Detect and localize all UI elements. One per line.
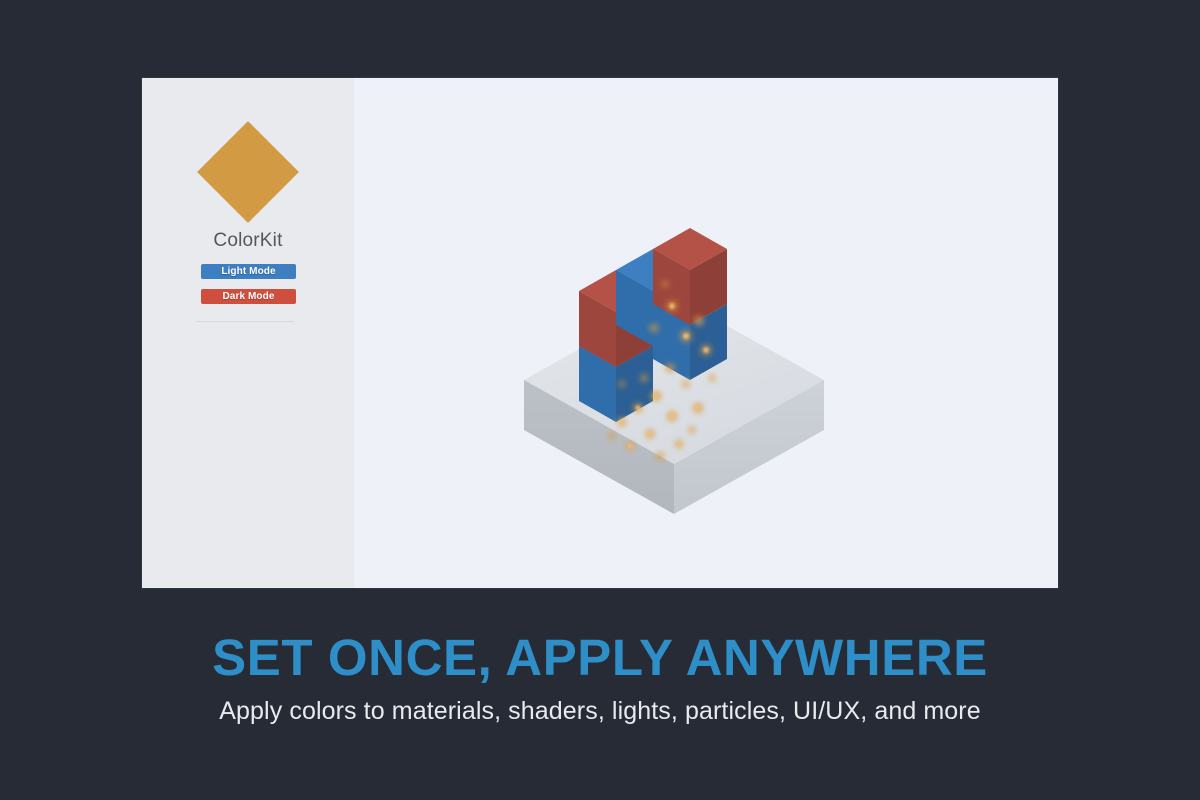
screenshot-root: ColorKit Light Mode Dark Mode <box>0 0 1200 800</box>
light-mode-button[interactable]: Light Mode <box>201 264 296 279</box>
subheadline-text: Apply colors to materials, shaders, ligh… <box>0 696 1200 726</box>
app-window-card: ColorKit Light Mode Dark Mode <box>142 78 1058 588</box>
scene-viewport[interactable] <box>354 78 1058 588</box>
caption-block: SET ONCE, APPLY ANYWHERE Apply colors to… <box>0 628 1200 726</box>
brand-name-label: ColorKit <box>142 230 354 252</box>
isometric-scene <box>354 78 1058 588</box>
headline-text: SET ONCE, APPLY ANYWHERE <box>0 628 1200 688</box>
sidebar-divider <box>196 321 294 322</box>
dark-mode-button[interactable]: Dark Mode <box>201 289 296 304</box>
sidebar-panel: ColorKit Light Mode Dark Mode <box>142 78 354 588</box>
diamond-icon <box>197 121 299 223</box>
